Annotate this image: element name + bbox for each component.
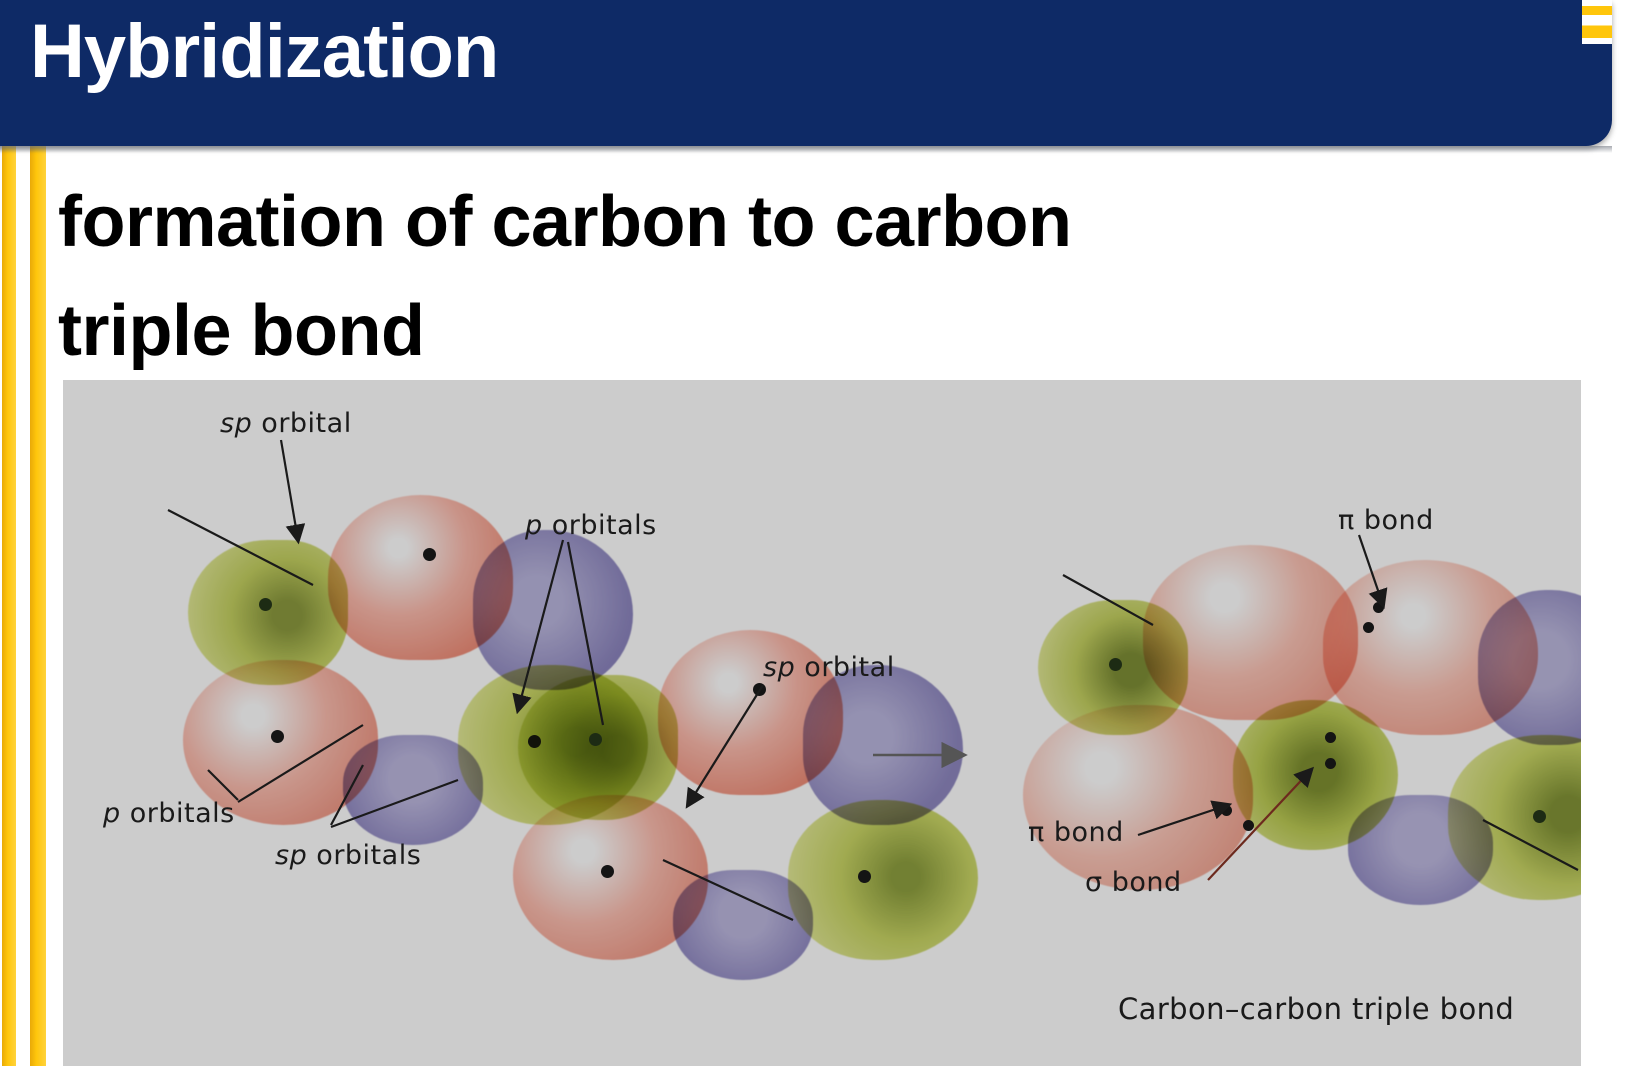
figure-caption: Carbon–carbon triple bond [1118, 992, 1514, 1026]
leader-sp-orbital-mid [688, 685, 763, 805]
label-p-orbitals-left-prefix: p [103, 798, 121, 829]
leader-p-orbitals-mid-b [568, 542, 603, 725]
leader-line-upper-left [168, 510, 313, 585]
leader-p-orbitals-left-a [208, 770, 238, 800]
label-pi-bond-lower-right: π bond [1028, 817, 1124, 848]
label-sp-orbitals-left: sp orbitals [275, 840, 421, 871]
leader-pi-bond-top [1359, 535, 1383, 605]
leader-sp-orbital-left [281, 440, 298, 540]
label-p-orbitals-mid-rest: orbitals [543, 510, 657, 541]
body-line-2: triple bond [58, 277, 1398, 386]
title-bar-shadow [0, 146, 1612, 153]
label-sp-orbital-mid: sp orbital [763, 652, 895, 683]
slide-body-text: formation of carbon to carbon triple bon… [58, 168, 1398, 387]
orbital-diagram-figure: sp orbital p orbitals sp orbitals p orbi… [63, 380, 1581, 1066]
leader-pi-bond-lower [1138, 805, 1228, 835]
left-accent-stripe-inner [30, 140, 46, 1066]
leader-line-middle-lower [663, 860, 793, 920]
leader-lines-overlay [63, 380, 1581, 1066]
label-p-orbitals-mid-prefix: p [525, 510, 543, 541]
body-line-1: formation of carbon to carbon [58, 168, 1398, 277]
leader-p-orbitals-left-b [238, 725, 363, 802]
slide: Hybridization formation of carbon to car… [0, 0, 1642, 1066]
label-sigma-bond: σ bond [1085, 867, 1182, 898]
label-sp-orbital-left-rest: orbital [252, 408, 351, 439]
title-bar-accent-stripes [1582, 0, 1612, 44]
leader-p-orbitals-mid-a [518, 540, 563, 710]
label-pi-bond-top-right: π bond [1338, 505, 1434, 536]
label-sp-orbital-left: sp orbital [220, 408, 352, 439]
label-p-orbitals-left: p orbitals [103, 798, 235, 829]
label-p-orbitals-mid: p orbitals [525, 510, 657, 541]
label-p-orbitals-left-rest: orbitals [121, 798, 235, 829]
label-sp-orbitals-left-rest: orbitals [307, 840, 421, 871]
page-title: Hybridization [30, 4, 498, 99]
label-sp-orbitals-left-prefix: sp [275, 840, 307, 871]
leader-product-upper-left [1063, 575, 1153, 625]
left-accent-stripe-outer [2, 140, 16, 1066]
label-sp-orbital-mid-prefix: sp [763, 652, 795, 683]
slide-title-bar: Hybridization [0, 0, 1612, 146]
leader-sigma-bond [1208, 770, 1311, 880]
label-sp-orbital-mid-rest: orbital [795, 652, 894, 683]
label-sp-orbital-left-prefix: sp [220, 408, 252, 439]
leader-product-right [1483, 820, 1578, 870]
